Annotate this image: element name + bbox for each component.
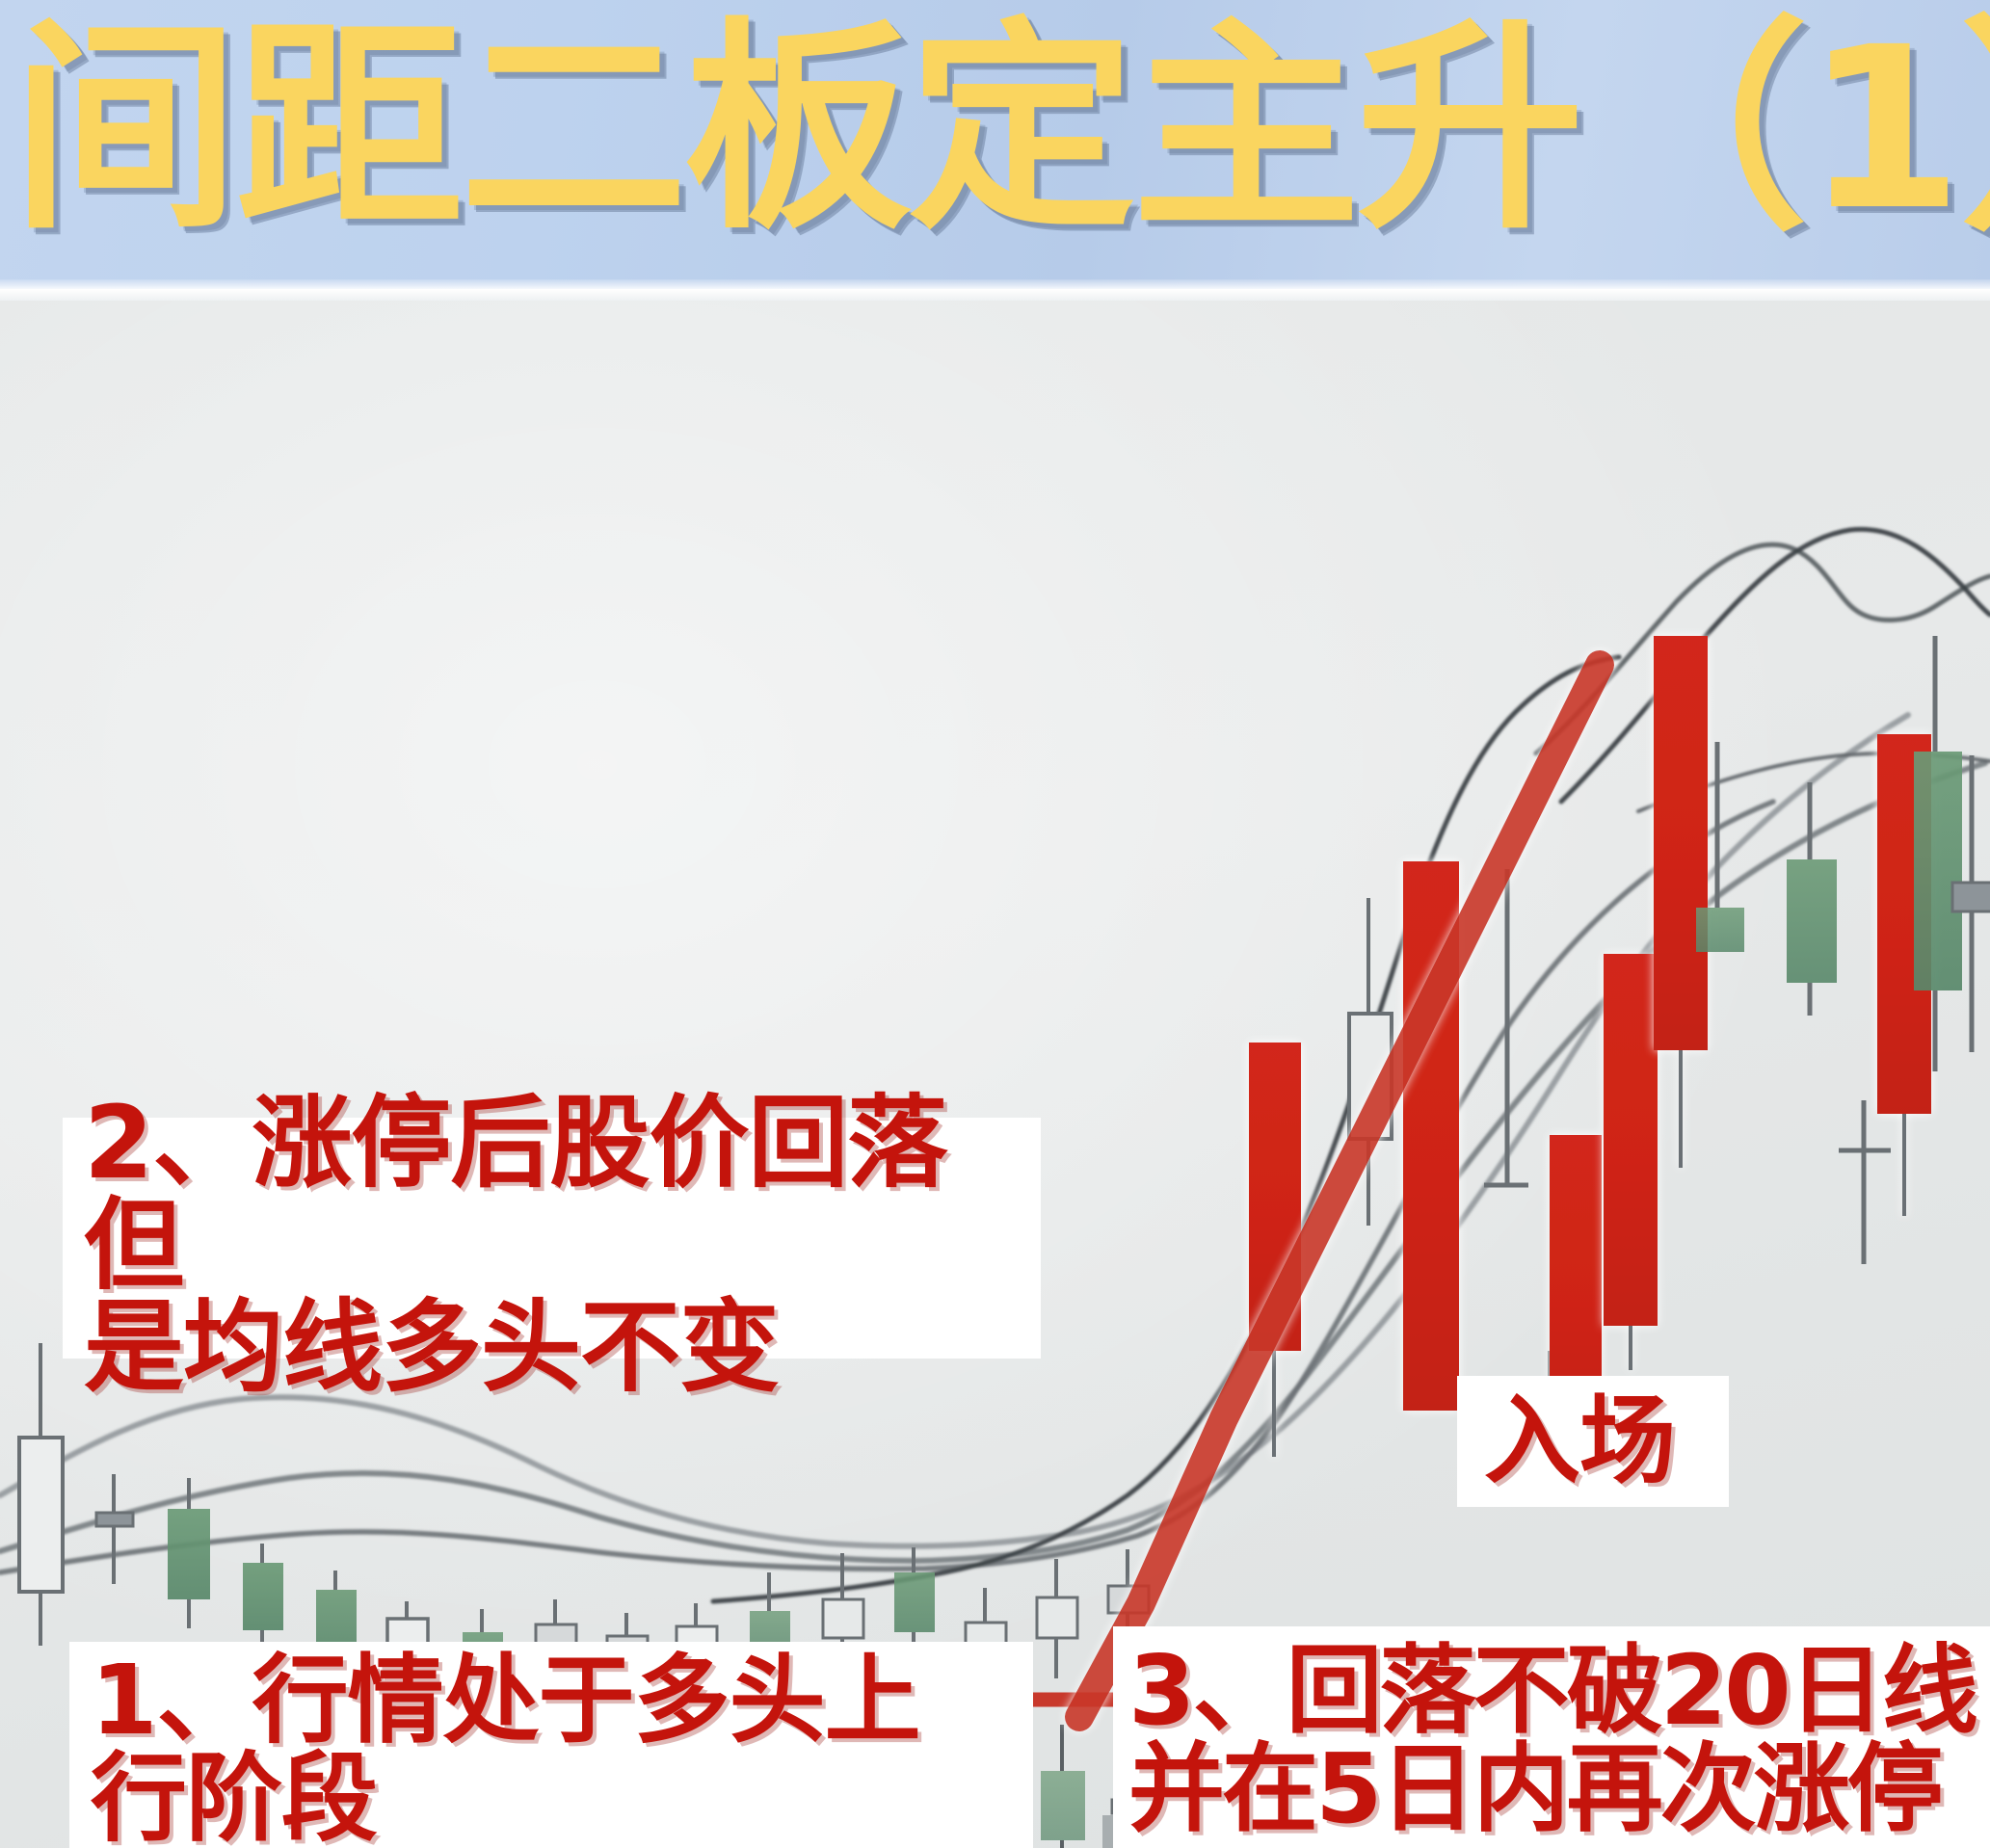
title-divider (0, 289, 1990, 301)
annotation-box-entry: 入场 (1457, 1376, 1729, 1507)
uptrend-line (1079, 665, 1600, 1717)
candle-bearish (1787, 782, 1837, 1016)
annotation-box-2: 2、涨停后股价回落但 是均线多头不变 (63, 1118, 1041, 1359)
candle (243, 1544, 283, 1651)
candle-bullish (1604, 954, 1658, 1370)
annotation-text-entry: 入场 (1484, 1392, 1675, 1491)
candle (1484, 869, 1528, 1187)
candle (1839, 1100, 1891, 1264)
candle-group-rally (1249, 636, 1990, 1457)
chart-svg (0, 301, 1990, 1848)
candle (1041, 1725, 1085, 1848)
annotation-text-1: 1、行情处于多头上 行阶段 (91, 1651, 920, 1848)
page-title: 间距二板定主升（1） (12, 0, 1990, 274)
candle (96, 1474, 133, 1584)
title-bar: 间距二板定主升（1） (0, 0, 1990, 289)
annotation-text-3: 3、回落不破20日线 并在5日内再次涨停 (1128, 1642, 1976, 1838)
candlestick-chart (0, 301, 1990, 1848)
annotation-box-1: 1、行情处于多头上 行阶段 (69, 1642, 1033, 1848)
candle (1037, 1559, 1077, 1678)
slide-canvas: 间距二板定主升（1） (0, 0, 1990, 1848)
candle-bullish (1654, 636, 1708, 1168)
candle (19, 1343, 63, 1646)
annotation-box-3: 3、回落不破20日线 并在5日内再次涨停 (1113, 1626, 1990, 1848)
annotation-text-2: 2、涨停后股价回落但 是均线多头不变 (84, 1092, 1041, 1398)
